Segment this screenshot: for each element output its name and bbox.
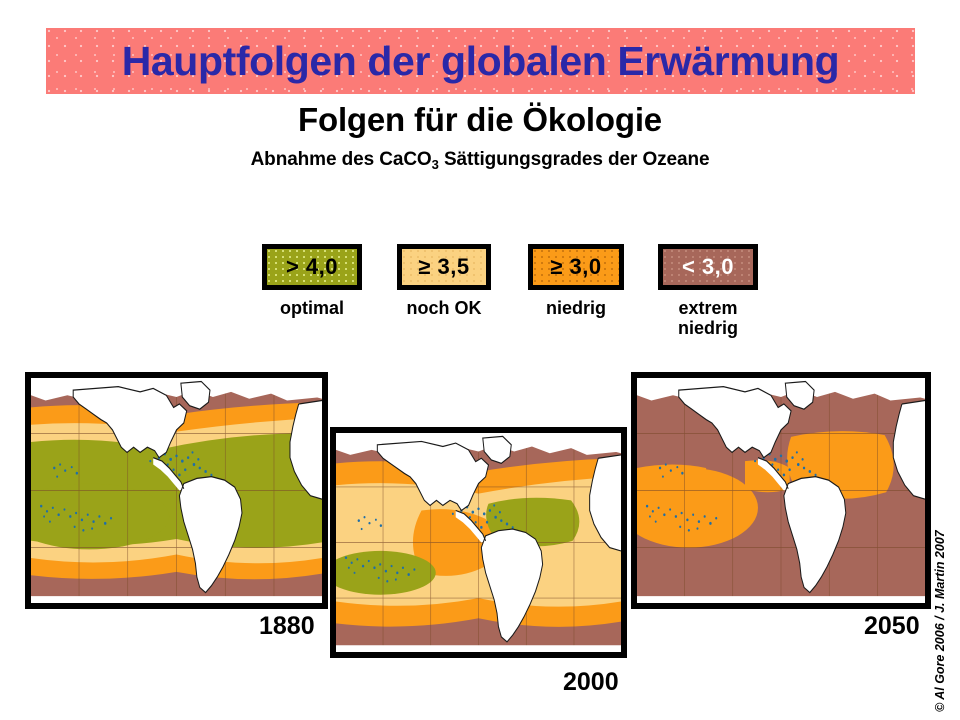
map-year-label-2050: 2050: [864, 612, 920, 641]
legend-item-noch-ok: ≥ 3,5 noch OK: [397, 244, 491, 318]
legend-caption-optimal: optimal: [262, 298, 362, 318]
legend-swatch-niedrig: ≥ 3,0: [528, 244, 624, 290]
map-panel-1880: [25, 372, 328, 609]
copyright-text: © Al Gore 2006 / J. Martin 2007: [933, 530, 947, 712]
map-panel-2050: [631, 372, 931, 609]
legend-value-niedrig: ≥ 3,0: [550, 254, 601, 280]
legend-value-extrem-niedrig: < 3,0: [682, 254, 734, 280]
sub-subtitle-subscript: 3: [432, 157, 439, 172]
page-title: Hauptfolgen der globalen Erwärmung: [122, 41, 840, 82]
map-year-label-1880: 1880: [259, 612, 315, 641]
legend-caption-niedrig: niedrig: [528, 298, 624, 318]
legend-caption-noch-ok: noch OK: [397, 298, 491, 318]
sub-subtitle: Abnahme des CaCO3 Sättigungsgrades der O…: [0, 149, 960, 171]
legend-swatch-noch-ok: ≥ 3,5: [397, 244, 491, 290]
map-image-2000: [336, 433, 621, 652]
legend-item-niedrig: ≥ 3,0 niedrig: [528, 244, 624, 318]
legend: > 4,0 optimal ≥ 3,5 noch OK ≥ 3,0 niedri…: [0, 244, 960, 354]
map-year-label-2000: 2000: [563, 668, 619, 697]
subtitle: Folgen für die Ökologie: [0, 101, 960, 139]
legend-item-extrem-niedrig: < 3,0 extrem niedrig: [658, 244, 758, 338]
sub-subtitle-pre: Abnahme des CaCO: [251, 149, 432, 170]
sub-subtitle-post: Sättigungsgrades der Ozeane: [439, 149, 710, 170]
legend-item-optimal: > 4,0 optimal: [262, 244, 362, 318]
map-image-2050: [637, 378, 925, 603]
legend-swatch-extrem-niedrig: < 3,0: [658, 244, 758, 290]
legend-value-noch-ok: ≥ 3,5: [418, 254, 469, 280]
legend-caption-extrem-niedrig: extrem niedrig: [658, 298, 758, 338]
title-banner: Hauptfolgen der globalen Erwärmung: [46, 28, 915, 94]
map-panel-2000: [330, 427, 627, 658]
copyright-notice: © Al Gore 2006 / J. Martin 2007: [934, 482, 960, 712]
legend-swatch-optimal: > 4,0: [262, 244, 362, 290]
map-image-1880: [31, 378, 322, 603]
legend-value-optimal: > 4,0: [286, 254, 338, 280]
